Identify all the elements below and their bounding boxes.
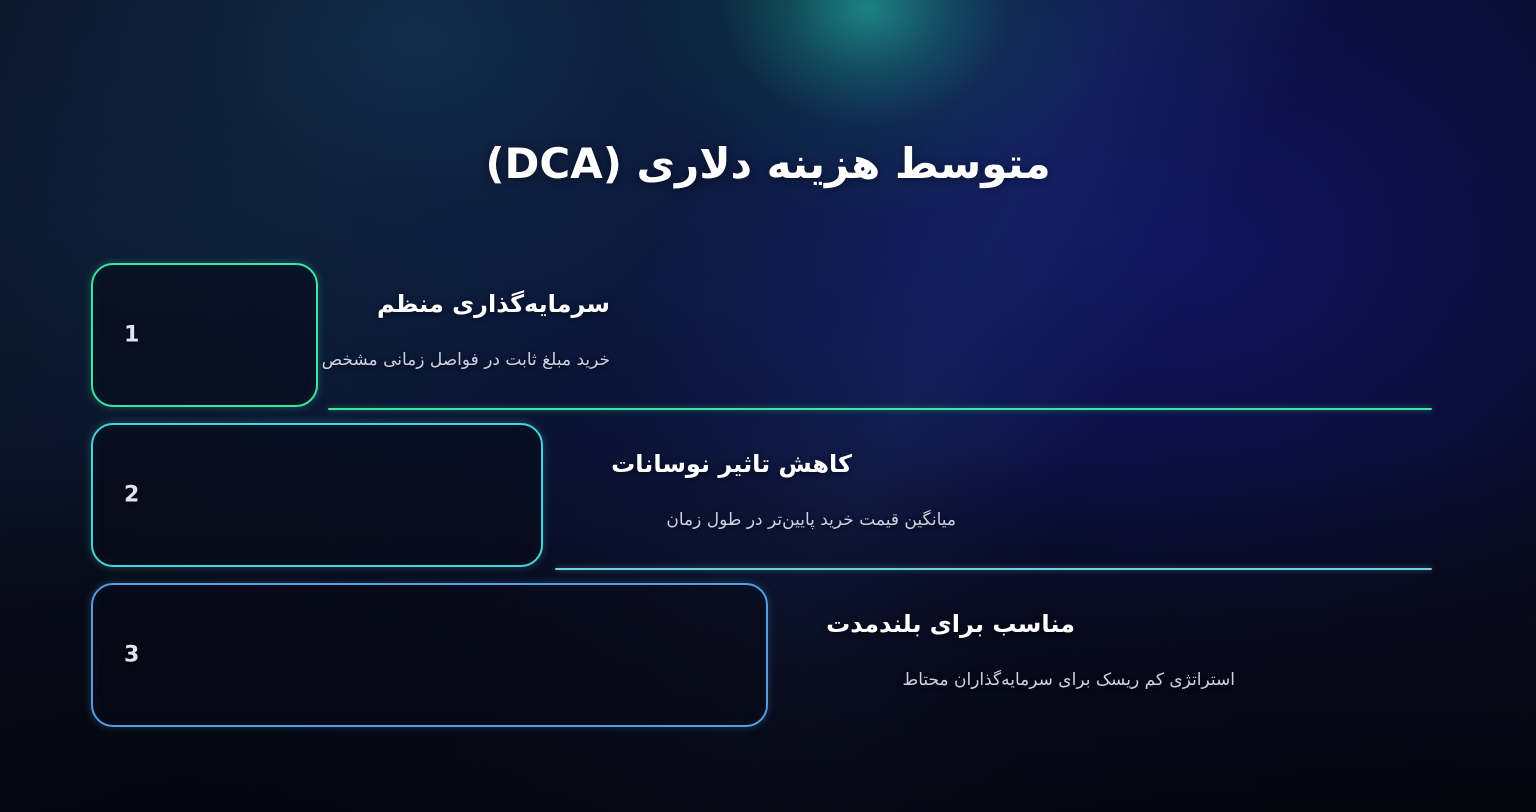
item-heading-1: سرمایه‌گذاری منظم <box>377 289 610 320</box>
list-item: 2 کاهش تاثیر نوسانات میانگین قیمت خرید پ… <box>0 415 1536 575</box>
item-subtitle-3: استراتژی کم ریسک برای سرمایه‌گذاران محتا… <box>902 668 1235 694</box>
slide-canvas: متوسط هزینه دلاری (DCA) 1 سرمایه‌گذاری م… <box>0 0 1536 812</box>
list-item: 1 سرمایه‌گذاری منظم خرید مبلغ ثابت در فو… <box>0 255 1536 415</box>
page-title: متوسط هزینه دلاری (DCA) <box>0 139 1536 189</box>
item-divider-1 <box>328 408 1432 410</box>
number-label-1: 1 <box>124 323 139 348</box>
item-subtitle-1: خرید مبلغ ثابت در فواصل زمانی مشخص <box>322 348 610 374</box>
number-label-3: 3 <box>124 643 139 668</box>
list-item: 3 مناسب برای بلندمدت استراتژی کم ریسک بر… <box>0 575 1536 735</box>
number-label-2: 2 <box>124 483 139 508</box>
number-box-3[interactable]: 3 <box>91 583 768 727</box>
item-heading-3: مناسب برای بلندمدت <box>826 609 1075 640</box>
number-box-1[interactable]: 1 <box>91 263 318 407</box>
item-subtitle-2: میانگین قیمت خرید پایین‌تر در طول زمان <box>666 508 956 534</box>
item-heading-2: کاهش تاثیر نوسانات <box>611 449 852 480</box>
item-divider-2 <box>555 568 1432 570</box>
number-box-2[interactable]: 2 <box>91 423 543 567</box>
